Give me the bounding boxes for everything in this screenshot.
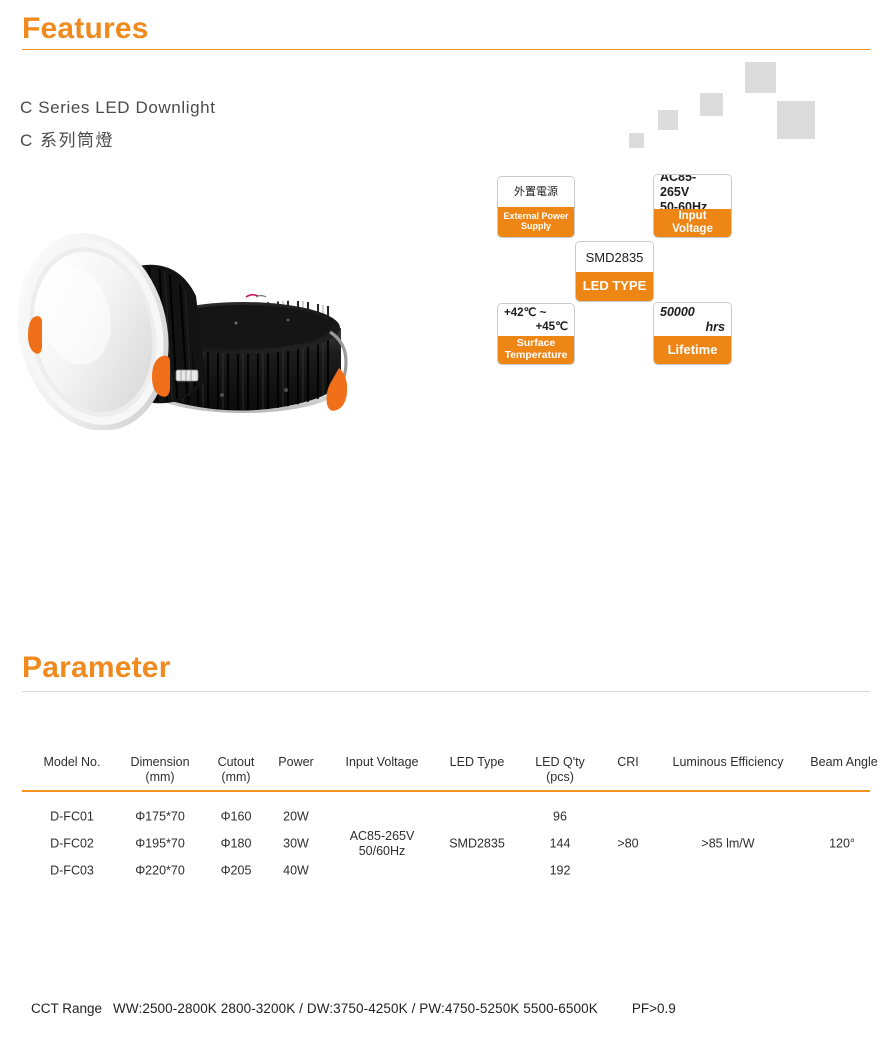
callout-lifetime-label: Lifetime [654,336,731,364]
table-cell-beam-angle: 120° [829,837,855,852]
decorative-square-5 [777,101,815,139]
callout-power-value: 外置電源 [498,177,574,207]
footer-specs: CCT Range WW:2500-2800K 2800-3200K / DW:… [31,1001,871,1016]
table-cell-cri: >80 [617,837,638,852]
table-row: D-FC03 [50,864,94,879]
callout-power-label: External Power Supply [498,207,574,237]
features-heading: Features [22,12,149,46]
callout-voltage-value-line1: AC85-265V [660,174,725,200]
table-header-row: Model No. Dimension(mm) Cutout(mm) Power… [22,755,870,790]
table-header-model: Model No. [44,755,101,770]
callout-lifetime-value: 50000 hrs [654,303,731,336]
features-divider [22,49,870,50]
table-header-power: Power [278,755,313,770]
decorative-square-2 [658,110,678,130]
cct-range-value: WW:2500-2800K 2800-3200K / DW:3750-4250K… [113,1001,598,1016]
callout-ledtype-label: LED TYPE [576,272,653,301]
callout-temp-value-line1: +42℃ ~ [504,307,568,321]
callout-lifetime-value-line2: hrs [660,320,725,335]
callout-ledtype-value: SMD2835 [576,242,653,272]
table-row: Φ180 [221,837,252,852]
product-title-en: C Series LED Downlight [20,98,216,118]
table-row: Φ195*70 [135,837,185,852]
table-cell-led-type: SMD2835 [449,837,505,852]
callout-temp-label-line2: Temperature [505,349,568,361]
table-row: 192 [550,864,571,879]
parameter-heading: Parameter [22,651,171,685]
callout-temp-label: Surface Temperature [498,336,574,364]
table-row: Φ160 [221,810,252,825]
callout-external-power-supply: 外置電源 External Power Supply [497,176,575,238]
table-row: 40W [283,864,309,879]
cct-range-label: CCT Range [31,1001,102,1016]
table-row: Φ175*70 [135,810,185,825]
callout-temp-value-line2: +45℃ [504,321,568,335]
decorative-square-1 [629,133,644,148]
table-row: Φ220*70 [135,864,185,879]
table-header-led-type: LED Type [450,755,505,770]
callout-temp-label-line1: Surface [517,337,556,349]
callout-led-type: SMD2835 LED TYPE [575,241,654,302]
table-header-input-voltage: Input Voltage [346,755,419,770]
table-row: 20W [283,810,309,825]
callout-ledtype-value-line1: SMD2835 [586,250,644,265]
table-header-dimension: Dimension(mm) [130,755,189,785]
callout-surface-temperature: +42℃ ~ +45℃ Surface Temperature [497,303,575,365]
table-header-cri: CRI [617,755,639,770]
callout-lifetime: 50000 hrs Lifetime [653,302,732,365]
table-header-led-qty: LED Q'ty(pcs) [535,755,585,785]
table-header-luminous-efficiency: Luminous Efficiency [673,755,784,770]
parameter-divider [22,691,870,692]
callout-temp-value: +42℃ ~ +45℃ [498,304,574,336]
callout-voltage-label: Input Voltage [654,209,731,237]
table-cell-luminous-efficiency: >85 lm/W [701,837,754,852]
table-cell-input-voltage: AC85-265V50/60Hz [350,829,415,859]
product-photo [0,180,400,430]
product-title-zh: C 系列筒燈 [20,126,114,151]
parameter-table: Model No. Dimension(mm) Cutout(mm) Power… [22,755,870,790]
decorative-square-3 [700,93,723,116]
table-row: 144 [550,837,571,852]
callout-lifetime-value-line1: 50000 [660,305,725,320]
table-row: D-FC02 [50,837,94,852]
table-row: Φ205 [221,864,252,879]
callout-power-value-line1: 外置電源 [514,186,558,199]
decorative-square-4 [745,62,776,93]
callout-input-voltage: AC85-265V 50-60Hz Input Voltage [653,174,732,238]
table-row: D-FC01 [50,810,94,825]
table-row: 96 [553,810,567,825]
power-factor-value: PF>0.9 [632,1001,676,1016]
table-header-divider [22,790,870,792]
table-row: 30W [283,837,309,852]
table-body: D-FC01 Φ175*70 Φ160 20W 96 D-FC02 Φ195*7… [22,803,870,898]
table-header-cutout: Cutout(mm) [218,755,255,785]
table-header-beam-angle: Beam Angle [810,755,877,770]
callout-voltage-value: AC85-265V 50-60Hz [654,175,731,209]
